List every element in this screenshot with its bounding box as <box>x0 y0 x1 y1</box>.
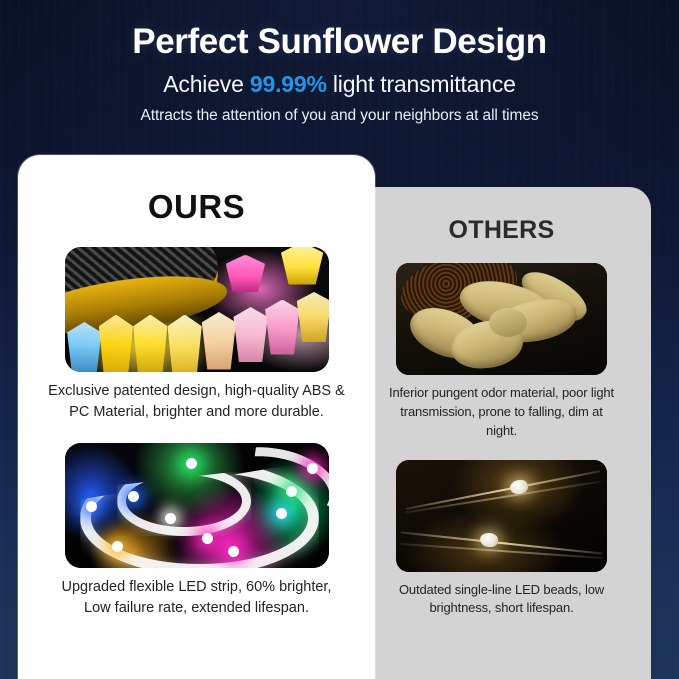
dried-sunflower-icon <box>396 263 607 375</box>
tagline: Attracts the attention of you and your n… <box>0 107 679 125</box>
others-column-title: OTHERS <box>352 216 651 245</box>
ours-image-2 <box>65 443 329 568</box>
others-image-1 <box>396 263 607 375</box>
others-caption-2: Outdated single-line LED beads, low brig… <box>386 581 618 619</box>
ours-caption-2: Upgraded flexible LED strip, 60% brighte… <box>47 577 347 619</box>
subtitle-suffix: light transmittance <box>327 71 516 97</box>
banner-header: Perfect Sunflower Design Achieve 99.99% … <box>0 22 679 125</box>
others-image-2 <box>396 460 607 572</box>
ours-image-1 <box>65 247 329 372</box>
promo-banner: Perfect Sunflower Design Achieve 99.99% … <box>0 0 679 679</box>
sunflower-light-icon <box>65 247 329 372</box>
others-caption-1: Inferior pungent odor material, poor lig… <box>386 384 618 441</box>
ours-panel: OURS Exclusive pat <box>18 155 375 679</box>
led-beads-icon <box>396 460 607 572</box>
ours-column-title: OURS <box>18 188 375 226</box>
others-panel: OTHERS Inferior pungent odor material, p… <box>352 187 651 679</box>
ours-caption-1: Exclusive patented design, high-quality … <box>47 381 347 423</box>
subtitle: Achieve 99.99% light transmittance <box>0 71 679 98</box>
page-title: Perfect Sunflower Design <box>0 22 679 61</box>
rgb-led-strip-icon <box>65 443 329 568</box>
transmittance-value: 99.99% <box>250 71 327 97</box>
subtitle-prefix: Achieve <box>163 71 250 97</box>
